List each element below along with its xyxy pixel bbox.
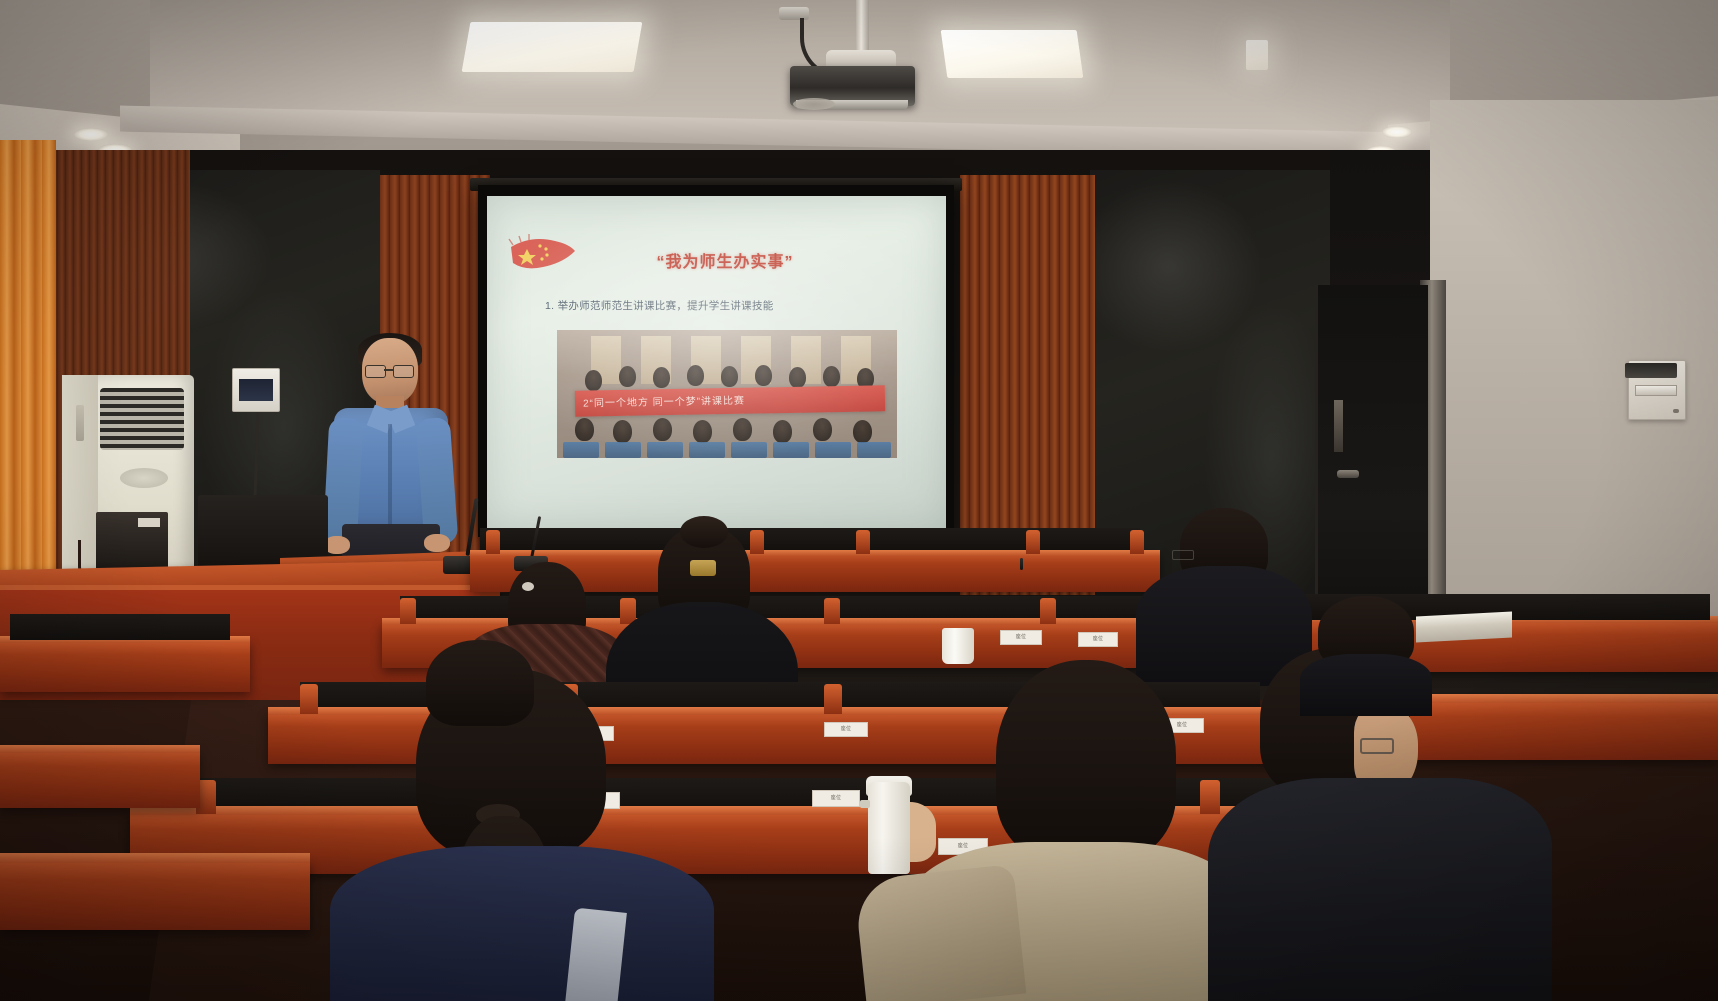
hair-tie [522,582,534,591]
eyeglasses-icon [365,365,386,378]
slide-photo: 2“同一个地方 同一个梦”讲课比赛 [557,330,897,458]
seat-label: 座位 [1078,632,1118,647]
thermostat-display [239,379,273,401]
desk-post [300,684,318,714]
door-lock-plate [1334,400,1343,452]
presenter-hand-right [424,534,450,552]
desk-post [1040,598,1056,624]
thermos-clip [860,800,870,808]
audience-collar [565,908,627,1001]
seat-label: 座位 [824,722,868,737]
audience-arm [854,864,1027,1001]
seat-label: 座位 [1000,630,1042,645]
desk-post [400,598,416,624]
ceiling-panel-light [462,22,643,72]
audience-member [900,660,1240,1001]
desk-row-left-wing [0,640,250,692]
desk-row-left-front [0,750,200,808]
presenter-shirt-placket [388,424,392,524]
ac-air-grille [100,388,184,450]
ac-handle [76,405,84,441]
ac-thermostat[interactable] [232,368,280,412]
ceiling-panel-light [941,30,1084,78]
thermos-bottle [868,782,910,874]
desk-row-left-front-2 [0,860,310,930]
smoke-detector-icon [793,98,835,110]
eyeglasses-icon [1360,738,1394,754]
desk-row-left-front-2-edge [0,853,310,863]
audience-hair [996,660,1176,860]
desk-post [824,684,842,714]
audience-member [1300,596,1430,706]
downlight-icon [74,128,108,141]
slide-bullet-text: 1. 举办师范师范生讲课比赛，提升学生讲课技能 [545,298,855,313]
seat-label: 座位 [812,790,860,807]
conference-room-scene: “我为师生办实事” 1. 举办师范师范生讲课比赛，提升学生讲课技能 2“同一个地… [0,0,1718,1001]
slide-title: “我为师生办实事” [600,248,850,272]
pc-sticker [138,518,160,527]
photo-banner-text: 2“同一个地方 同一个梦”讲课比赛 [583,389,881,409]
door-handle[interactable] [1337,470,1359,478]
desk-post [824,598,840,624]
audience-member [412,640,552,750]
microphone-stem [1020,558,1023,570]
photo-banner: 2“同一个地方 同一个梦”讲课比赛 [575,385,885,416]
eyeglasses-bridge [384,369,393,371]
desk-row-1-edge [470,550,1160,556]
desk-post [856,530,870,554]
ceiling-panel-light [1246,40,1268,70]
desk-row-left-front-edge [0,745,200,753]
wall-control-panel[interactable] [1628,360,1686,420]
eyeglasses-icon [393,365,414,378]
desk-post [486,530,500,554]
ac-brand-badge [120,468,168,488]
hair-clip [690,560,716,576]
desk-row-backpanel [10,614,230,640]
audience-hair [426,640,534,726]
panel-indicator-icon [1673,409,1679,413]
downlight-icon [1382,126,1412,138]
audience-navy-coat [330,846,714,1001]
desk-post [1026,530,1040,554]
china-flag-icon [505,233,579,281]
stacked-papers [1416,611,1512,642]
audience-dark-coat [1208,778,1552,1001]
paper-cup [942,628,974,664]
panel-top-cover [1625,363,1677,378]
audience-body [1300,654,1432,716]
panel-display [1635,385,1677,396]
eyeglasses-icon [1172,550,1194,560]
hair-bun [680,516,728,548]
